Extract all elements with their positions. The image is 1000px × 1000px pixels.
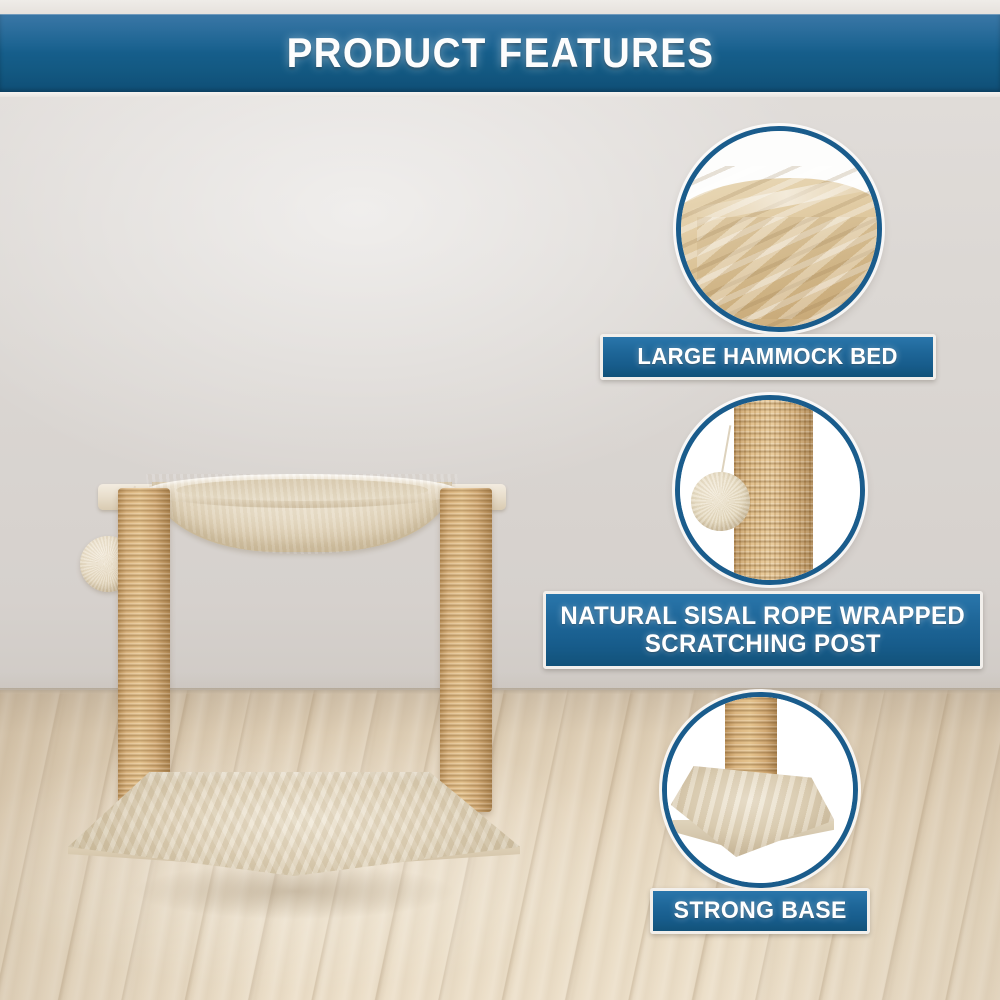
- sisal-rope-texture: [440, 488, 492, 812]
- sisal-rope-texture: [118, 488, 170, 812]
- callout-image-strong-base: [662, 692, 858, 888]
- callout-label-line: NATURAL SISAL ROPE WRAPPED: [561, 602, 966, 630]
- fur-folds: [697, 217, 882, 319]
- infographic-canvas: PRODUCT FEATURES: [0, 0, 1000, 1000]
- base-closeup-photo: [667, 697, 853, 883]
- hammock-fur-texture: [146, 474, 458, 554]
- sisal-post-right: [440, 488, 492, 812]
- callout-label-line: LARGE HAMMOCK BED: [638, 344, 898, 370]
- callout-image-sisal-post: [675, 395, 865, 585]
- banner-top-strip: [0, 0, 1000, 14]
- banner-bottom-strip: [0, 92, 1000, 97]
- product-features-banner: PRODUCT FEATURES: [0, 14, 1000, 92]
- callout-label-large-hammock-bed: LARGE HAMMOCK BED: [600, 334, 936, 380]
- plush-base-platform: [68, 772, 520, 898]
- callout-label-strong-base: STRONG BASE: [650, 888, 870, 934]
- page-title: PRODUCT FEATURES: [286, 29, 714, 77]
- hammock-closeup-photo: [681, 131, 877, 327]
- callout-label-line: SCRATCHING POST: [645, 630, 881, 658]
- callout-label-line: STRONG BASE: [673, 898, 846, 925]
- sisal-post-left: [118, 488, 170, 812]
- callout-label-sisal-scratching-post: NATURAL SISAL ROPE WRAPPED SCRATCHING PO…: [543, 591, 983, 669]
- callout-image-hammock: [676, 126, 882, 332]
- product-photo-cat-tree: [60, 440, 540, 870]
- sisal-closeup-photo: [680, 400, 860, 580]
